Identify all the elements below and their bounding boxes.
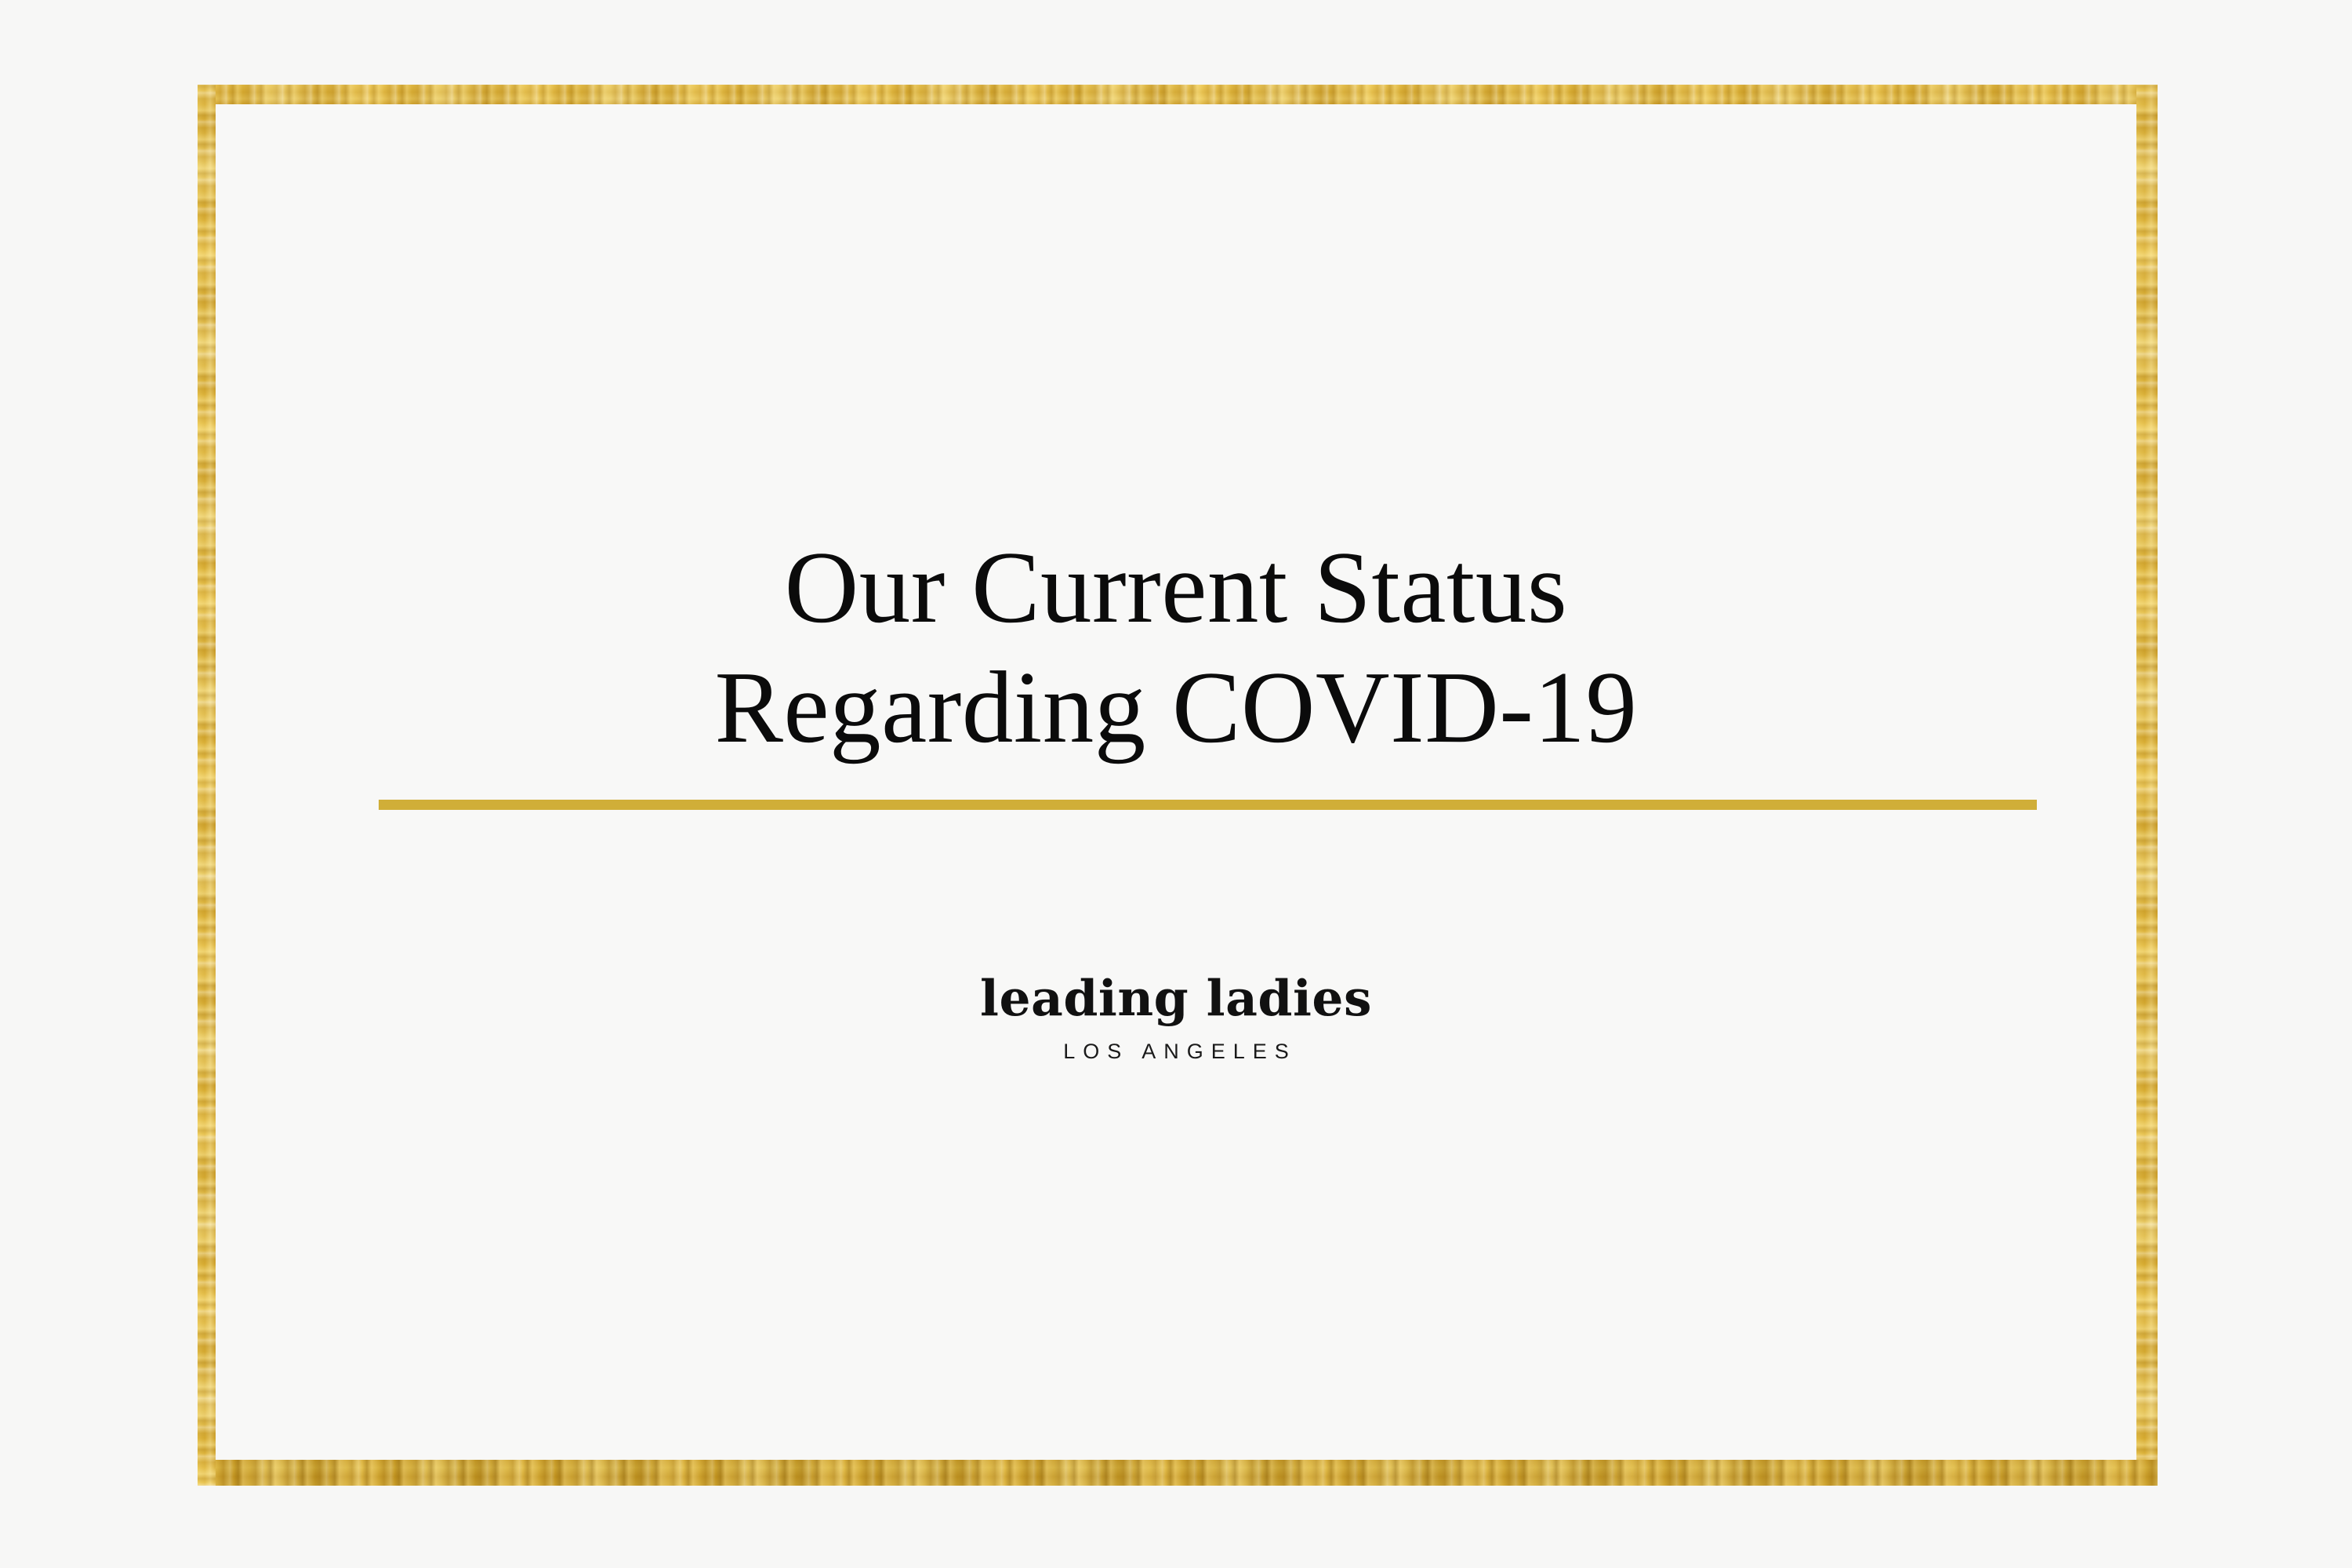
page-title-line-1: Our Current Status (216, 528, 2136, 648)
slide-canvas: Our Current Status Regarding COVID-19 le… (0, 0, 2352, 1568)
page-title: Our Current Status Regarding COVID-19 (216, 528, 2136, 768)
frame-edge-top (198, 85, 2158, 104)
gold-foil-frame: Our Current Status Regarding COVID-19 le… (198, 85, 2158, 1486)
gold-divider-rule (379, 800, 2037, 810)
frame-edge-bottom (198, 1460, 2158, 1486)
brand-logo: leading ladies LOS ANGELES (216, 971, 2136, 1064)
frame-edge-left (198, 85, 216, 1486)
brand-wordmark: leading ladies (216, 971, 2136, 1025)
brand-city-tagline: LOS ANGELES (216, 1039, 2136, 1064)
page-title-line-2: Regarding COVID-19 (216, 648, 2136, 768)
frame-edge-right (2136, 85, 2158, 1486)
slide-content-area: Our Current Status Regarding COVID-19 le… (216, 104, 2136, 1460)
